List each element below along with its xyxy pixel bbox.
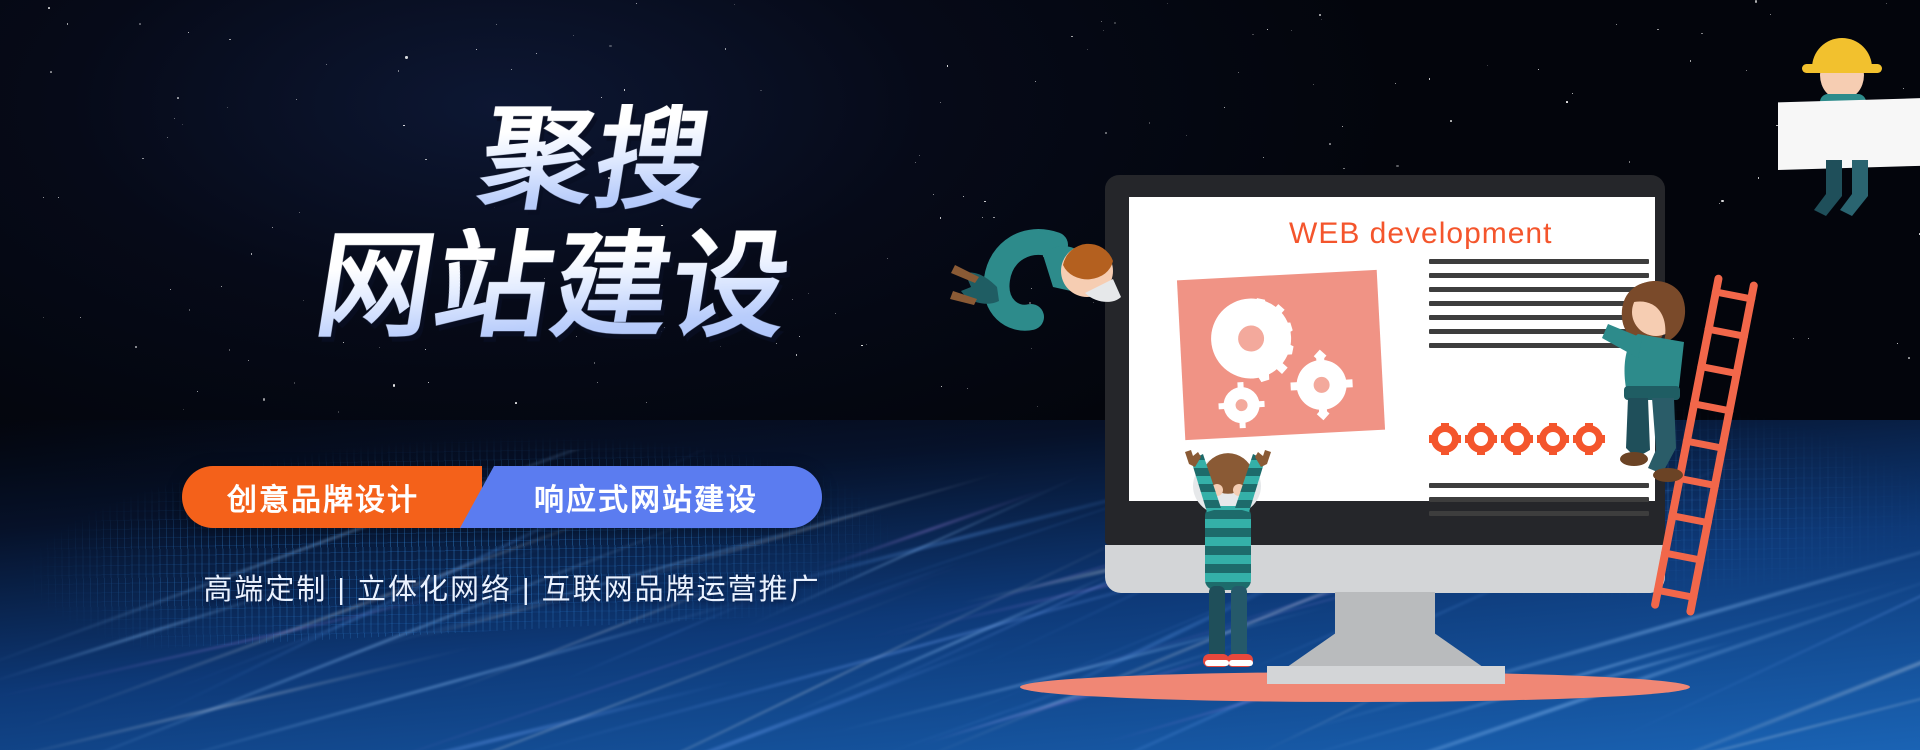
- star: [398, 70, 400, 72]
- star: [573, 35, 574, 36]
- monitor-base: [1267, 666, 1505, 684]
- star: [188, 32, 189, 33]
- star: [734, 4, 735, 5]
- pill-label-right: 响应式网站建设: [534, 475, 758, 519]
- hero-tagline: 高端定制 | 立体化网络 | 互联网品牌运营推广: [182, 566, 842, 608]
- pill-label-left: 创意品牌设计: [227, 475, 419, 519]
- star: [135, 346, 137, 348]
- star: [947, 65, 949, 67]
- star: [326, 64, 327, 65]
- boy-lifting-card: [1165, 420, 1295, 690]
- gear-cluster-icon: [1177, 270, 1385, 440]
- worker-with-blueprint: [1760, 20, 1920, 170]
- star: [982, 217, 983, 218]
- star: [50, 71, 52, 73]
- star: [636, 3, 637, 4]
- gear-icon: [1537, 423, 1569, 455]
- star: [296, 99, 297, 100]
- light-streak: [0, 642, 485, 750]
- star: [624, 89, 626, 91]
- headline-line-2: 网站建设: [0, 228, 909, 344]
- star: [177, 97, 179, 99]
- star: [229, 39, 231, 41]
- star: [536, 53, 537, 54]
- star: [139, 23, 141, 25]
- star: [940, 217, 942, 219]
- star: [993, 217, 995, 219]
- star: [405, 56, 407, 58]
- hanging-worker: [935, 225, 1145, 385]
- pill-segment-responsive-site[interactable]: 响应式网站建设: [460, 466, 822, 528]
- star: [476, 49, 477, 50]
- content-line: [1429, 259, 1649, 264]
- gear-icon: [1501, 423, 1533, 455]
- star: [67, 23, 69, 25]
- pill-segment-brand-design[interactable]: 创意品牌设计: [182, 466, 482, 528]
- gear-icon: [1465, 423, 1497, 455]
- service-pill[interactable]: 创意品牌设计 响应式网站建设: [182, 466, 822, 528]
- climbing-worker: [1598, 272, 1728, 502]
- star: [511, 69, 512, 70]
- star: [48, 7, 50, 9]
- light-streak: [487, 633, 1021, 750]
- content-line: [1429, 511, 1649, 516]
- hard-hat-brim: [1802, 64, 1882, 73]
- star: [725, 48, 727, 50]
- star: [963, 196, 965, 198]
- gear-row: [1429, 423, 1605, 455]
- star: [933, 194, 934, 195]
- star: [609, 45, 611, 47]
- gear-card: [1177, 270, 1385, 440]
- light-streak: [257, 676, 746, 750]
- star: [915, 162, 916, 163]
- hero-copy: 聚搜 网站建设: [0, 104, 900, 344]
- screen-title: WEB development: [1289, 217, 1552, 251]
- illustration: WEB development: [1030, 0, 1920, 750]
- star: [919, 155, 920, 156]
- star: [984, 201, 986, 203]
- star: [940, 102, 942, 104]
- headline-line-1: 聚搜: [0, 104, 909, 216]
- star: [496, 24, 497, 25]
- gear-icon: [1429, 423, 1461, 455]
- star: [760, 90, 762, 92]
- legs: [1760, 160, 1920, 230]
- hero-banner: 聚搜 网站建设 创意品牌设计 响应式网站建设 高端定制 | 立体化网络 | 互联…: [0, 0, 1920, 750]
